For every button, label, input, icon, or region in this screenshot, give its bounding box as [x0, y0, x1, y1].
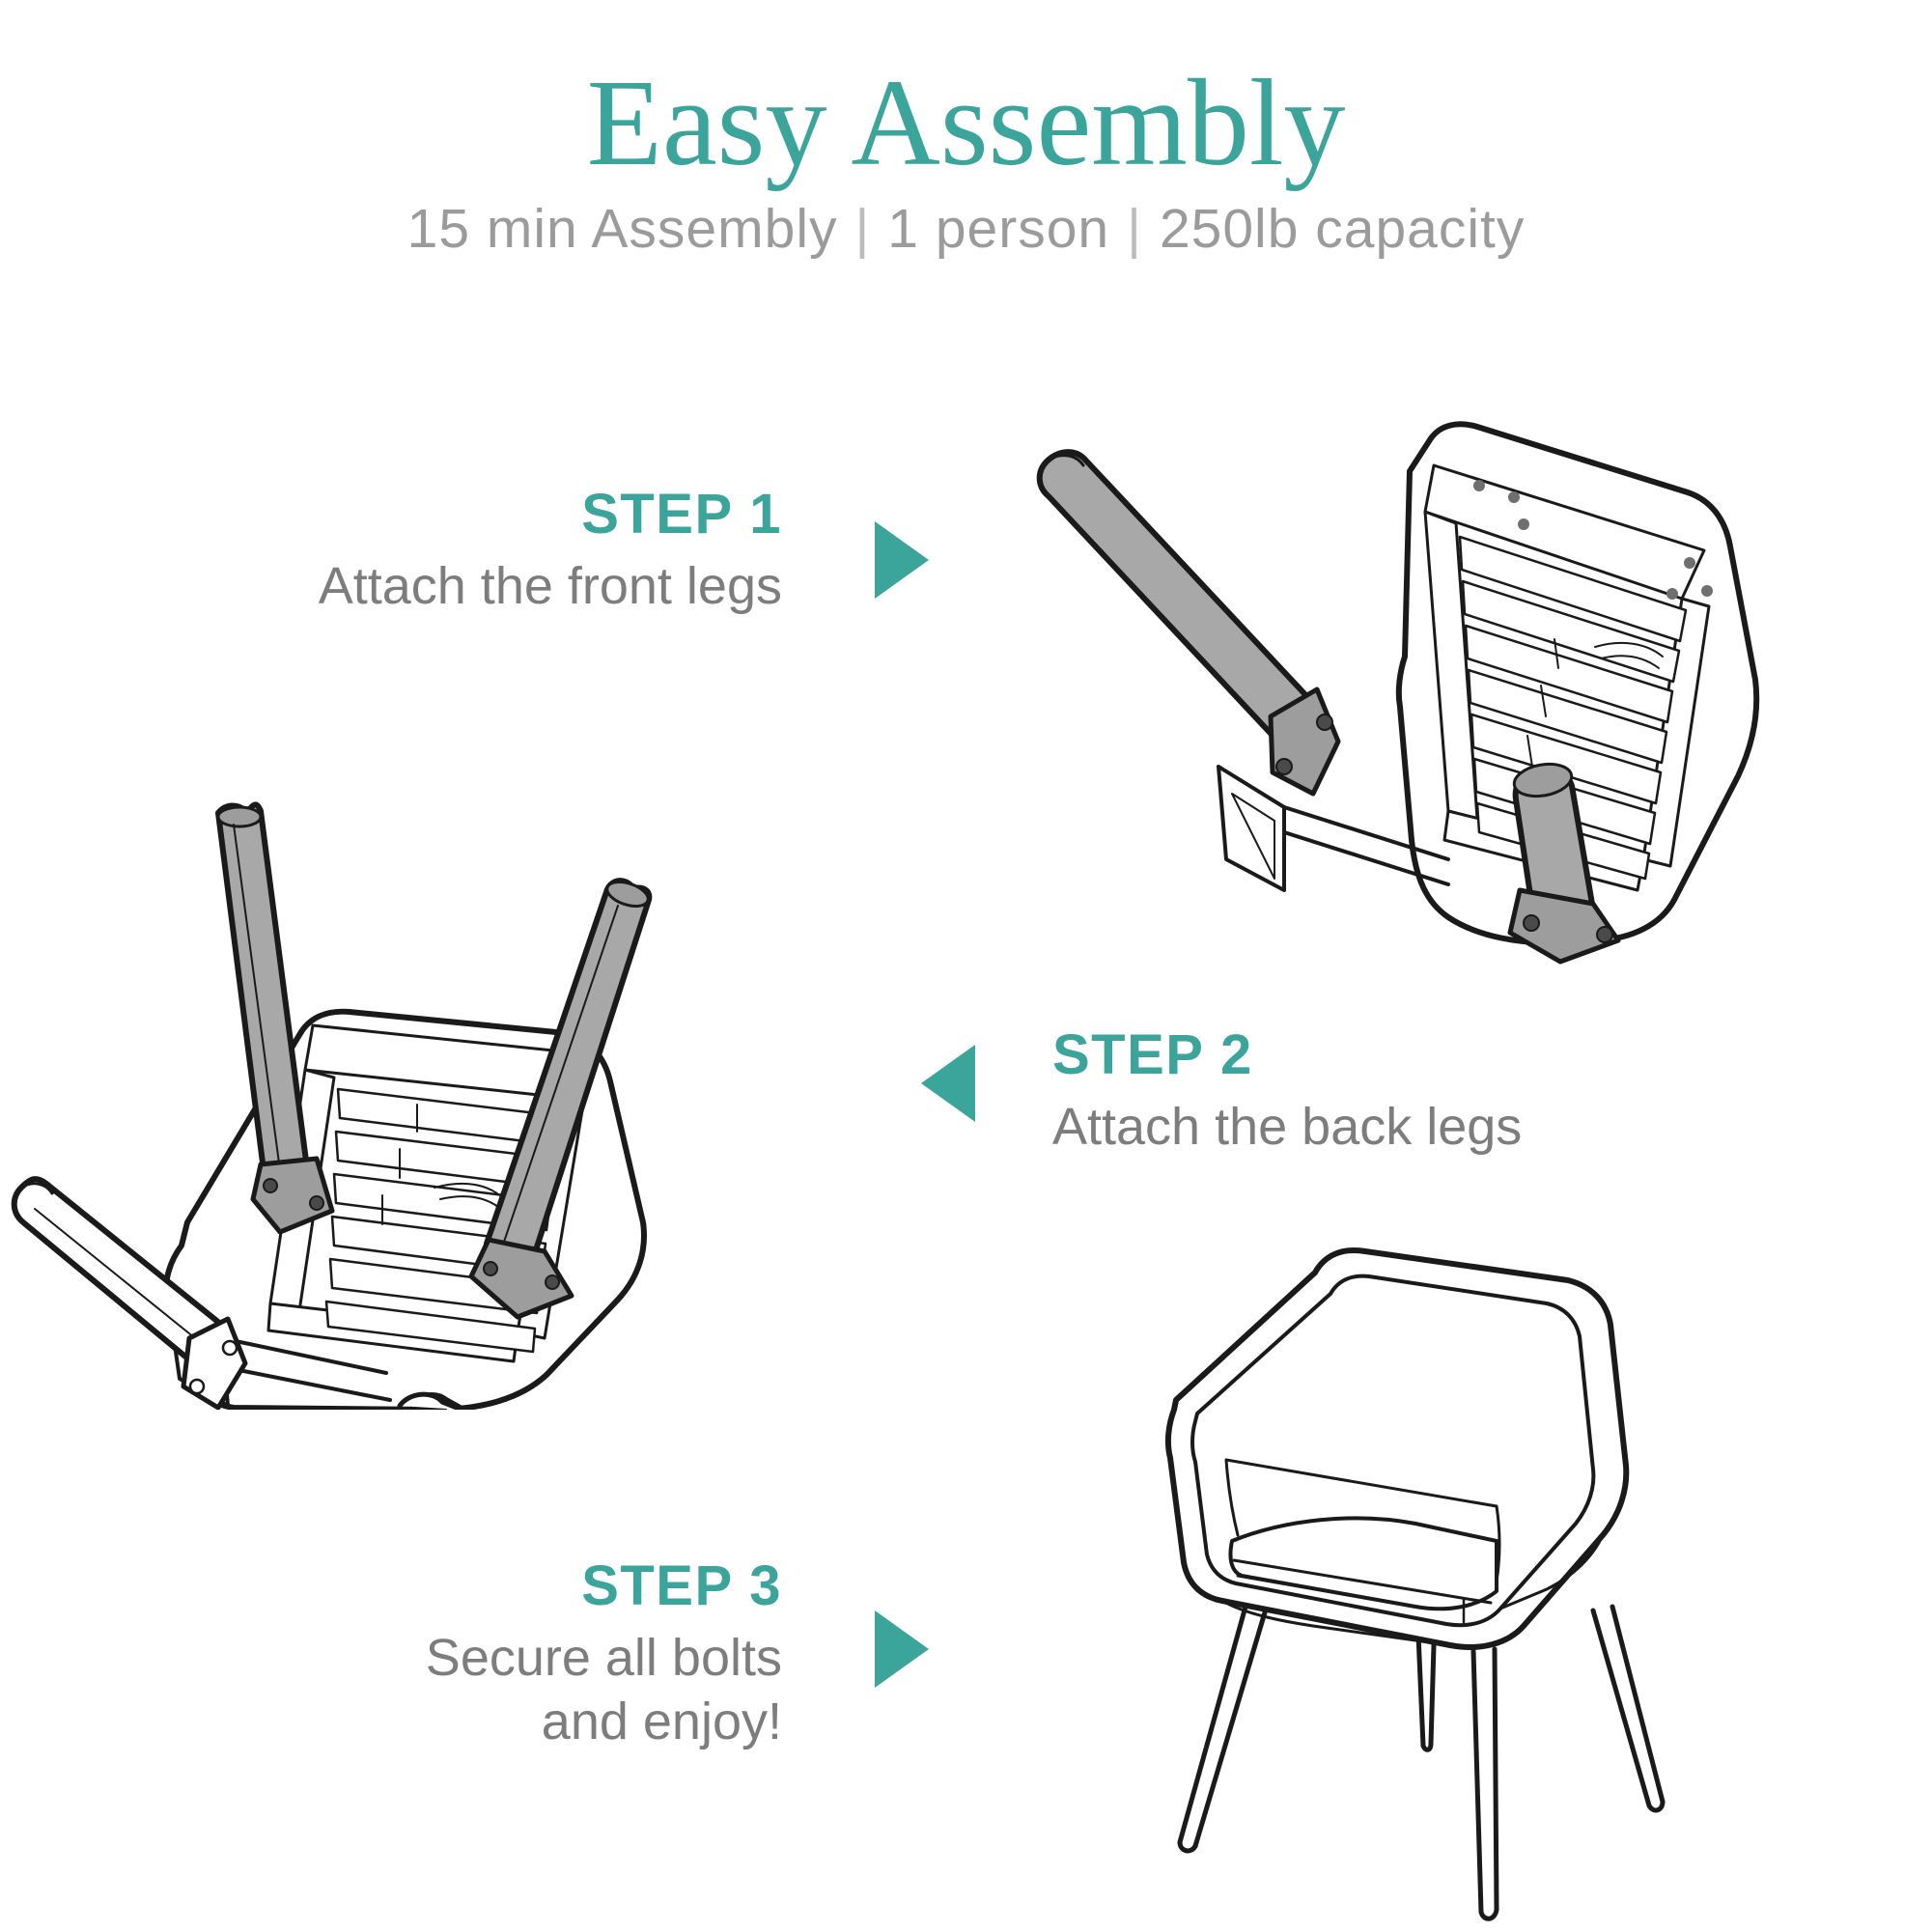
arrow-right-icon	[875, 521, 929, 599]
step-2-description: Attach the back legs	[1052, 1096, 1748, 1160]
step-1-description: Attach the front legs	[116, 555, 782, 619]
subtitle-part-assembly-time: 15 min Assembly	[407, 198, 838, 260]
page-subtitle: 15 min Assembly|1 person|250lb capacity	[0, 197, 1932, 261]
page-title: Easy Assembly	[0, 58, 1932, 187]
subtitle-part-person-count: 1 person	[887, 198, 1109, 260]
step-3-label: STEP 3	[164, 1554, 782, 1619]
finished-armchair-illustration	[1091, 1217, 1863, 1931]
step-2-label: STEP 2	[1052, 1023, 1748, 1088]
step-3-description-line-1: Secure all bolts	[164, 1627, 782, 1691]
step-2-text-block: STEP 2 Attach the back legs	[1052, 1023, 1748, 1160]
subtitle-separator-1: |	[837, 198, 887, 260]
chair-upside-down-front-legs-illustration	[994, 357, 1921, 966]
step-3-description-line-2: and enjoy!	[164, 1691, 782, 1754]
chair-upside-down-back-legs-illustration	[0, 734, 946, 1410]
step-1-label: STEP 1	[116, 483, 782, 547]
arrow-right-icon	[875, 1610, 929, 1688]
easy-assembly-infographic: Easy Assembly 15 min Assembly|1 person|2…	[0, 0, 1932, 1932]
step-1-text-block: STEP 1 Attach the front legs	[116, 483, 782, 619]
subtitle-part-capacity: 250lb capacity	[1160, 198, 1525, 260]
subtitle-separator-2: |	[1109, 198, 1160, 260]
step-3-text-block: STEP 3 Secure all bolts and enjoy!	[164, 1554, 782, 1753]
header: Easy Assembly 15 min Assembly|1 person|2…	[0, 58, 1932, 261]
